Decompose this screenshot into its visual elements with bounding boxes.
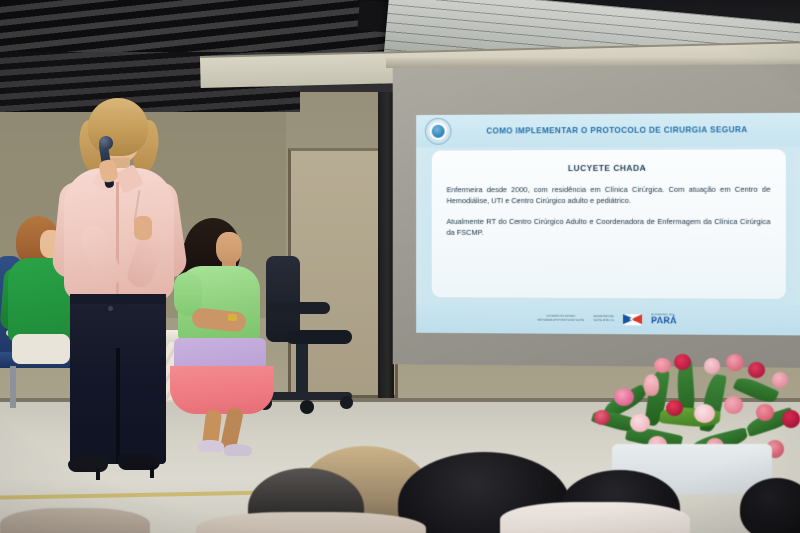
standing-presenter [40,98,200,488]
presenter-heel-left [96,468,100,480]
presenter-trouser-button [108,306,113,311]
presenter-waistband [70,294,166,304]
presenter-hair [88,98,148,156]
presentation-photo-scene: COMO IMPLEMENTAR O PROTOCOLO DE CIRURGIA… [0,0,800,533]
audience-shoulders-right [500,502,690,533]
panelist-right-shoe [198,440,224,452]
presenter-trouser-seam [116,348,120,464]
institutional-seal-logo [425,118,451,145]
wall-pillar [378,60,394,400]
footer-org-line-2: PROGRAMA ASSISTENCIA EM SAUDE [538,319,585,323]
brand-large-text: PARÁ [651,316,677,325]
slide-paragraph-1: Enfermeira desde 2000, com residência em… [447,184,771,207]
floral-arrangement [586,352,800,482]
slide-speaker-name: LUCYETE CHADA [447,162,771,173]
slide-header-title: COMO IMPLEMENTAR O PROTOCOLO DE CIRURGIA… [451,125,800,136]
slide-paragraph-2: Atualmente RT do Centro Cirúrgico Adulto… [447,216,771,239]
projection-screen: COMO IMPLEMENTAR O PROTOCOLO DE CIRURGIA… [393,64,800,368]
panelist-right-watch [228,314,237,321]
office-chair-caster [340,396,353,409]
para-state-flag-icon [623,314,642,325]
footer-org-text: GOVERNO DO ESTADO PROGRAMA ASSISTENCIA E… [538,315,585,323]
projected-slide: COMO IMPLEMENTAR O PROTOCOLO DE CIRURGIA… [416,113,800,336]
audience-shoulders-left [196,512,426,533]
footer-secretary-line-2: SAÚDE PÚBLICA [593,319,614,323]
slide-header: COMO IMPLEMENTAR O PROTOCOLO DE CIRURGIA… [416,113,800,148]
footer-secretary-text: SECRETARIA DE SAÚDE PÚBLICA [593,315,614,323]
presenter-shoe-left [68,456,108,472]
slide-footer: GOVERNO DO ESTADO PROGRAMA ASSISTENCIA E… [416,303,800,335]
audience-shoulders-far-left [0,508,150,533]
panelist-right-shoe [224,444,252,456]
governo-do-para-logo: GOVERNO DO PARÁ [651,313,677,325]
slide-content-card: LUCYETE CHADA Enfermeira desde 2000, com… [432,149,786,299]
presenter-heel-right [150,466,154,478]
presenter-hand-right [134,216,152,240]
